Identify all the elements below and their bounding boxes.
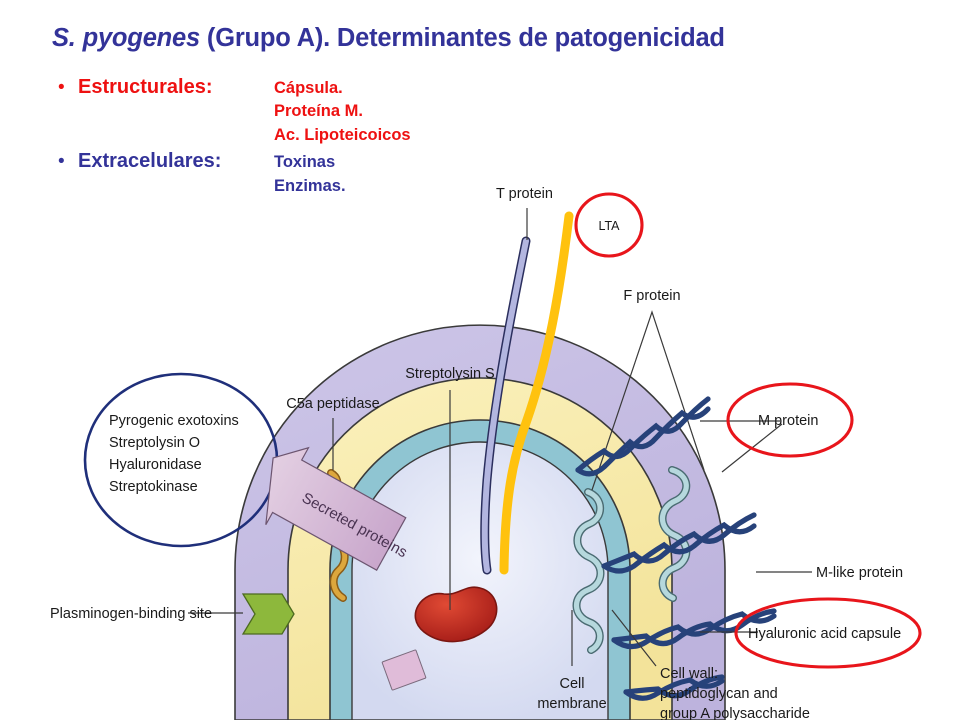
bullet-label-estructurales: Estructurales: [78,76,274,99]
plasminogen-binding-site-label: Plasminogen-binding site [50,606,212,622]
m-like-protein-label: M-like protein [816,565,903,581]
bullet-marker: • [52,78,78,97]
cell-wall-label-line2: peptidoglycan and [660,686,778,702]
f-protein-label: F protein [623,288,680,304]
value-ac-lipoteicoicos: Ac. Lipoteicoicos [274,126,411,144]
bullet-item-estructurales: • Estructurales: Cápsula. Proteína M. Ac… [52,76,522,147]
secreted-item-streptolysin-o: Streptolysin O [109,435,200,451]
cell-membrane-label-line1: Cell [560,676,585,692]
page-title: S. pyogenes (Grupo A). Determinantes de … [52,24,932,53]
bullet-values-estructurales: Cápsula. Proteína M. Ac. Lipoteicoicos [274,77,411,147]
title-species: S. pyogenes [52,24,200,52]
streptococcus-diagram: T protein LTA F protein Streptolysin S C… [0,170,960,720]
t-protein-label: T protein [496,186,553,202]
cell-wall-label-line3: group A polysaccharide [660,706,810,720]
lta-label: LTA [598,219,620,233]
secreted-item-pyrogenic-exotoxins: Pyrogenic exotoxins [109,413,239,429]
bullet-marker: • [52,152,78,171]
value-toxinas: Toxinas [274,153,335,171]
m-protein-label: M protein [758,413,818,429]
c5a-peptidase-label: C5a peptidase [286,396,380,412]
title-rest: (Grupo A). Determinantes de patogenicida… [200,24,725,52]
value-capsula: Cápsula. [274,79,343,97]
secreted-proteins-list: Pyrogenic exotoxins Streptolysin O Hyalu… [109,413,239,495]
cell-membrane-label-line2: membrane [537,696,606,712]
secreted-item-streptokinase: Streptokinase [109,479,198,495]
streptolysin-s-label: Streptolysin S [405,366,494,382]
hyaluronic-capsule-label: Hyaluronic acid capsule [748,626,901,642]
value-proteina-m: Proteína M. [274,102,363,120]
secreted-item-hyaluronidase: Hyaluronidase [109,457,202,473]
cell-wall-label-line1: Cell wall: [660,666,718,682]
